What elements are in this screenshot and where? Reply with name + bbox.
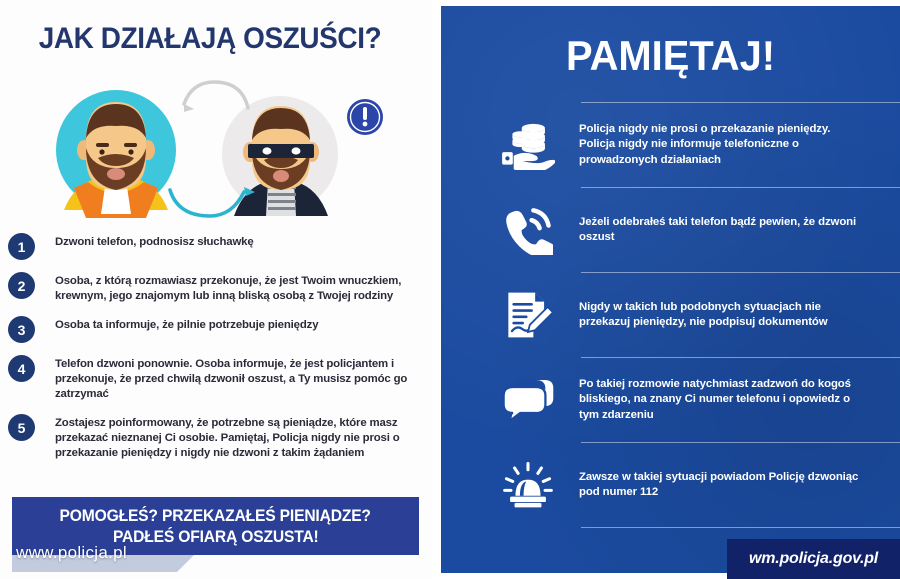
step-number: 5 <box>8 414 35 441</box>
phone-ringing-icon <box>485 205 571 255</box>
list-item: 3 Osoba ta informuje, że pilnie potrzebu… <box>8 315 428 343</box>
list-item: 2 Osoba, z którą rozmawiasz przekonuje, … <box>8 271 428 304</box>
step-text: Zostajesz poinformowany, że potrzebne są… <box>55 413 415 461</box>
watermark-wm-policja-gov-pl: wm.policja.gov.pl <box>727 539 900 579</box>
divider <box>581 527 900 528</box>
list-item: Po takiej rozmowie natychmiast zadzwoń d… <box>441 358 900 442</box>
list-item: Zawsze w takiej sytuacji powiadom Policj… <box>441 443 900 527</box>
list-item: 5 Zostajesz poinformowany, że potrzebne … <box>8 413 428 461</box>
speech-bubbles-icon <box>485 378 571 422</box>
step-text: Osoba ta informuje, że pilnie potrzebuje… <box>55 315 318 333</box>
tip-text: Jeżeli odebrałeś taki telefon bądź pewie… <box>579 215 869 246</box>
step-number: 4 <box>8 355 35 382</box>
list-item: Policja nigdy nie prosi o przekazanie pi… <box>441 103 900 187</box>
exclamation-badge-icon <box>346 98 384 136</box>
tip-text: Po takiej rozmowie natychmiast zadzwoń d… <box>579 377 869 424</box>
step-number: 2 <box>8 272 35 299</box>
tip-text: Policja nigdy nie prosi o przekazanie pi… <box>579 122 869 169</box>
poster-image: JAK DZIAŁAJĄ OSZUŚCI? <box>0 0 900 579</box>
hand-with-coins-icon <box>485 120 571 170</box>
curved-arrow-left-icon <box>176 78 252 118</box>
list-item: Nigdy w takich lub podobnych sytuacjach … <box>441 273 900 357</box>
tips-list: Policja nigdy nie prosi o przekazanie pi… <box>441 102 900 528</box>
banner-line-2: PADŁEŚ OFIARĄ OSZUSTA! <box>113 526 319 547</box>
bearded-man-avatar <box>48 88 184 218</box>
step-text: Telefon dzwoni ponownie. Osoba informuje… <box>55 354 415 402</box>
banner-line-1: POMOGŁEŚ? PRZEKAZAŁEŚ PIENIĄDZE? <box>60 505 371 526</box>
tip-text: Zawsze w takiej sytuacji powiadom Policj… <box>579 470 869 501</box>
tip-text: Nigdy w takich lub podobnych sytuacjach … <box>579 300 869 331</box>
right-panel: PAMIĘTAJ! <box>441 6 900 573</box>
steps-list: 1 Dzwoni telefon, podnosisz słuchawkę 2 … <box>8 232 428 472</box>
remember-title: PAMIĘTAJ! <box>452 32 888 80</box>
page-title: JAK DZIAŁAJĄ OSZUŚCI? <box>15 22 406 56</box>
list-item: 1 Dzwoni telefon, podnosisz słuchawkę <box>8 232 428 260</box>
curved-arrow-right-icon <box>166 176 258 222</box>
step-number: 3 <box>8 316 35 343</box>
step-number: 1 <box>8 233 35 260</box>
list-item: 4 Telefon dzwoni ponownie. Osoba informu… <box>8 354 428 402</box>
fraud-illustration <box>18 78 418 226</box>
list-item: Jeżeli odebrałeś taki telefon bądź pewie… <box>441 188 900 272</box>
document-signing-icon <box>485 289 571 341</box>
watermark-text: wm.policja.gov.pl <box>749 550 878 568</box>
left-panel: JAK DZIAŁAJĄ OSZUŚCI? <box>0 0 432 579</box>
police-siren-icon <box>485 461 571 509</box>
step-text: Dzwoni telefon, podnosisz słuchawkę <box>55 232 254 250</box>
step-text: Osoba, z którą rozmawiasz przekonuje, że… <box>55 271 415 304</box>
watermark-policja-pl: www.policja.pl <box>16 543 127 563</box>
